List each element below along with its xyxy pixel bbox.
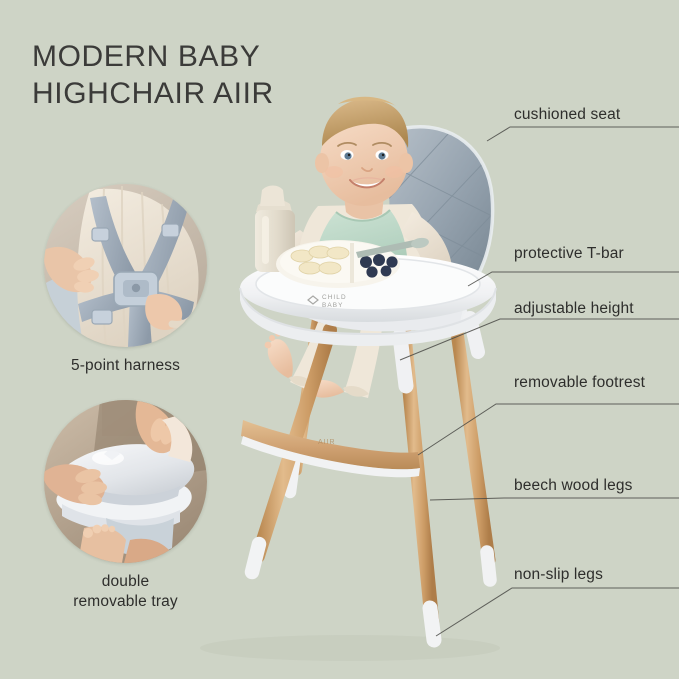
title-line-2: HIGHCHAIR AIIR [32,75,372,112]
callout-beech-wood-legs: beech wood legs [514,476,633,495]
inset-tray-caption-line-1: double [102,573,149,590]
callout-non-slip-legs: non-slip legs [514,565,603,584]
callout-adjustable-height: adjustable height [514,299,634,318]
inset-harness-caption: 5-point harness [44,356,207,376]
inset-double-removable-tray: double removable tray [44,400,207,612]
callout-cushioned-seat: cushioned seat [514,105,620,124]
svg-text:BABY: BABY [322,302,343,309]
svg-text:CHILD: CHILD [322,294,347,301]
non-slip-cap-front-right [430,608,434,640]
inset-tray-caption-line-2: removable tray [73,593,178,610]
inset-harness-photo [44,184,207,347]
removable-footrest: AIIR [241,420,420,477]
inset-tray-photo [44,400,207,563]
callout-protective-t-bar: protective T-bar [514,244,624,263]
svg-text:AIIR: AIIR [318,439,336,446]
inset-tray-caption: double removable tray [44,572,207,612]
page-title: MODERN BABY HIGHCHAIR AIIR [32,38,372,112]
title-line-1: MODERN BABY [32,38,372,75]
callout-removable-footrest: removable footrest [514,373,645,392]
non-slip-cap-front-left [252,544,259,572]
infographic-canvas: AIIR CHILD BABY [0,0,679,679]
inset-5-point-harness: 5-point harness [44,184,207,376]
